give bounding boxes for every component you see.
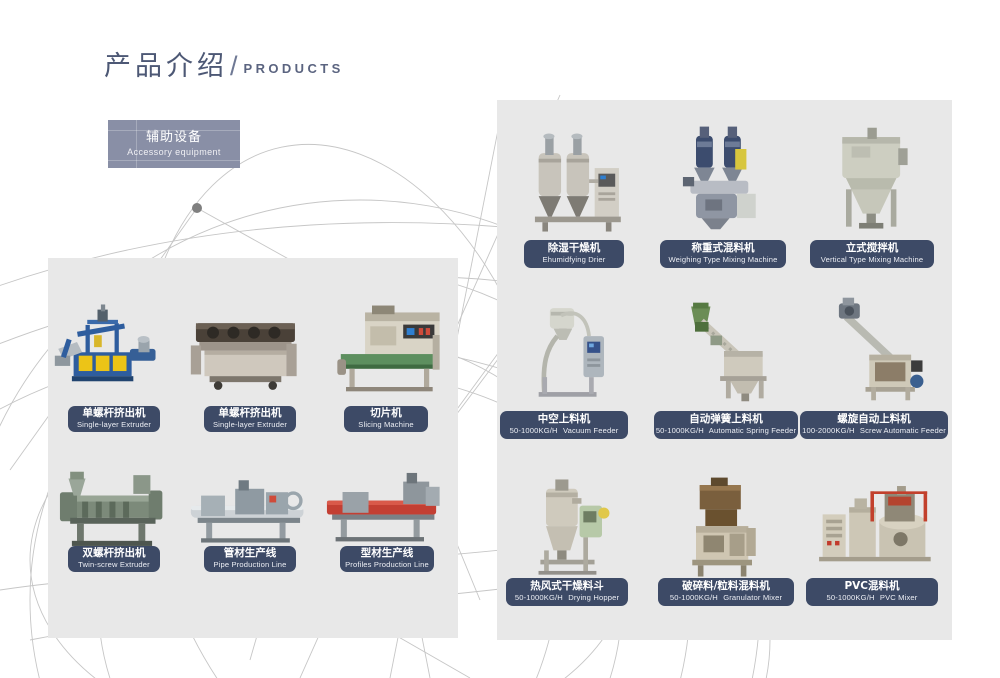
product-name-cn: 热风式干燥料斗 (530, 580, 604, 593)
product-name-en: 50-1000KG/H Drying Hopper (515, 593, 619, 603)
accessory-product-item-4[interactable] (520, 292, 632, 410)
product-capacity-spec: 100-2000KG/H (802, 426, 854, 435)
product-capacity-spec: 50-1000KG/H (656, 426, 704, 435)
product-name-en: 50-1000KG/H PVC Mixer (827, 593, 918, 603)
main-product-item-2[interactable] (184, 288, 312, 408)
product-name-cn: 螺旋自动上料机 (837, 413, 911, 426)
product-name-cn: 切片机 (370, 407, 402, 420)
main-product-item-1[interactable] (48, 288, 176, 408)
accessory-product-item-8[interactable] (668, 472, 780, 584)
product-name-cn: 立式搅拌机 (846, 242, 899, 255)
single-screw-extruder-roller-photo (184, 288, 312, 408)
pvc-mixer-photo (812, 472, 936, 578)
product-name-cn: 单螺杆挤出机 (83, 407, 146, 420)
product-name-cn: PVC混料机 (844, 580, 899, 593)
product-capacity-spec: 50-1000KG/H (670, 593, 718, 602)
product-capacity-spec: 50-1000KG/H (827, 593, 875, 602)
main-product-label-5[interactable]: 管材生产线Pipe Production Line (204, 546, 296, 572)
accessory-product-label-3[interactable]: 立式搅拌机Vertical Type Mixing Machine (810, 240, 934, 268)
product-name-cn: 双螺杆挤出机 (83, 547, 146, 560)
product-name-en: Weighing Type Mixing Machine (668, 255, 777, 265)
slicing-machine-photo (320, 288, 450, 408)
pipe-production-line-photo (184, 452, 312, 558)
weighing-mixing-machine-photo (668, 112, 780, 242)
product-name-cn: 单螺杆挤出机 (219, 407, 282, 420)
accessory-product-item-3[interactable] (818, 118, 930, 242)
product-name-cn: 中空上料机 (538, 413, 591, 426)
granulator-mixer-photo (668, 472, 780, 584)
product-name-en: Ehumidfying Drier (543, 255, 606, 265)
accessory-product-label-8[interactable]: 破碎料/粒料混料机50-1000KG/H Granulator Mixer (658, 578, 794, 606)
product-name-en: Profiles Production Line (345, 560, 429, 570)
main-product-item-5[interactable] (184, 452, 312, 558)
main-product-label-6[interactable]: 型材生产线Profiles Production Line (340, 546, 434, 572)
main-product-label-3[interactable]: 切片机Slicing Machine (344, 406, 428, 432)
product-name-cn: 管材生产线 (224, 547, 277, 560)
product-name-en: Slicing Machine (358, 420, 413, 430)
product-name-cn: 称重式混料机 (692, 242, 755, 255)
main-product-item-4[interactable] (48, 452, 176, 558)
accessory-product-item-5[interactable] (666, 292, 782, 410)
accessory-product-label-6[interactable]: 螺旋自动上料机100-2000KG/H Screw Automatic Feed… (800, 411, 948, 439)
twin-screw-extruder-photo (48, 452, 176, 558)
product-name-en: Single-layer Extruder (213, 420, 287, 430)
accessory-product-label-9[interactable]: PVC混料机50-1000KG/H PVC Mixer (806, 578, 938, 606)
accessory-product-item-1[interactable] (520, 124, 632, 242)
product-name-cn: 破碎料/粒料混料机 (682, 580, 770, 593)
product-name-cn: 型材生产线 (361, 547, 414, 560)
product-name-en: 50-1000KG/H Automatic Spring Feeder (656, 426, 796, 436)
accessory-product-label-5[interactable]: 自动弹簧上料机50-1000KG/H Automatic Spring Feed… (654, 411, 798, 439)
product-capacity-spec: 50-1000KG/H (515, 593, 563, 602)
product-name-cn: 除湿干燥机 (548, 242, 601, 255)
product-name-en: 50-1000KG/H Granulator Mixer (670, 593, 782, 603)
product-name-en: Single-layer Extruder (77, 420, 151, 430)
main-product-label-1[interactable]: 单螺杆挤出机Single-layer Extruder (68, 406, 160, 432)
product-name-en: Twin-screw Extruder (78, 560, 150, 570)
accessory-product-label-2[interactable]: 称重式混料机Weighing Type Mixing Machine (660, 240, 786, 268)
screw-automatic-feeder-photo (818, 288, 932, 410)
product-name-en: Pipe Production Line (213, 560, 286, 570)
accessory-product-label-1[interactable]: 除湿干燥机Ehumidfying Drier (524, 240, 624, 268)
accessory-product-label-4[interactable]: 中空上料机50-1000KG/H Vacuum Feeder (500, 411, 628, 439)
main-product-item-3[interactable] (320, 288, 450, 408)
product-name-en: 50-1000KG/H Vacuum Feeder (510, 426, 619, 436)
product-name-cn: 自动弹簧上料机 (689, 413, 763, 426)
main-product-item-6[interactable] (320, 452, 450, 558)
product-name-en: 100-2000KG/H Screw Automatic Feeder (802, 426, 946, 436)
profiles-production-line-photo (320, 452, 450, 558)
vacuum-feeder-photo (520, 292, 632, 410)
single-screw-extruder-photo (48, 288, 176, 408)
product-catalog-page: 产品介绍 / PRODUCTS 辅助设备 Accessory equipment… (0, 0, 1000, 678)
accessory-product-item-6[interactable] (818, 288, 932, 410)
accessory-product-label-7[interactable]: 热风式干燥料斗50-1000KG/H Drying Hopper (506, 578, 628, 606)
product-capacity-spec: 50-1000KG/H (510, 426, 558, 435)
dehumidifying-drier-photo (520, 124, 632, 242)
main-product-label-2[interactable]: 单螺杆挤出机Single-layer Extruder (204, 406, 296, 432)
drying-hopper-photo (518, 472, 630, 584)
automatic-spring-feeder-photo (666, 292, 782, 410)
accessory-product-item-2[interactable] (668, 112, 780, 242)
product-name-en: Vertical Type Mixing Machine (821, 255, 923, 265)
vertical-mixing-machine-photo (818, 118, 930, 242)
main-product-label-4[interactable]: 双螺杆挤出机Twin-screw Extruder (68, 546, 160, 572)
accessory-product-item-7[interactable] (518, 472, 630, 584)
accessory-product-item-9[interactable] (812, 472, 936, 578)
